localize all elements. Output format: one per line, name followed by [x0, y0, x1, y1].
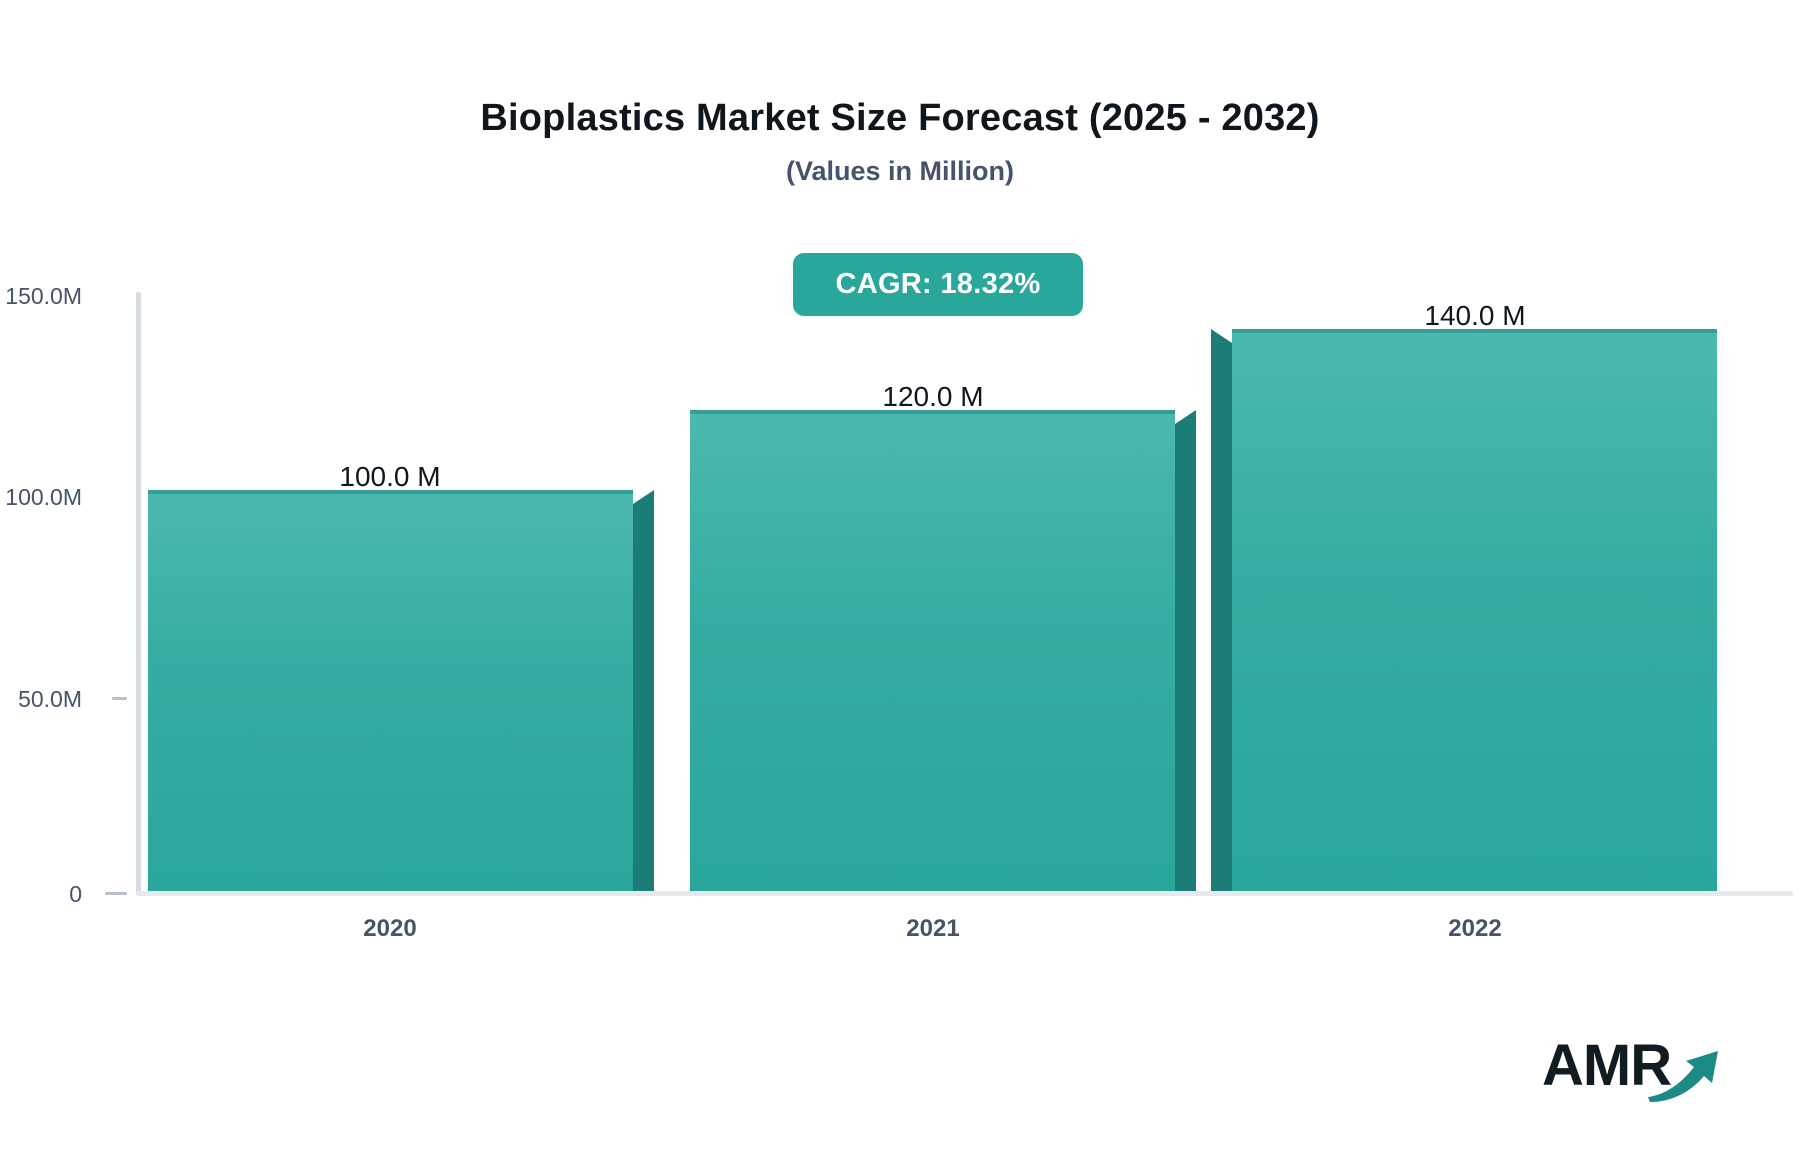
- plot-area: 150.0M 100.0M 50.0M 0 100.0 M 2020 120.0…: [0, 0, 1800, 1156]
- y-axis-line: [136, 292, 141, 896]
- x-axis-label-2020: 2020: [230, 917, 550, 941]
- bar-2022-front: [1232, 329, 1717, 891]
- y-axis-label-100: 100.0M: [5, 486, 82, 509]
- y-axis-label-150: 150.0M: [5, 285, 82, 308]
- cagr-badge: CAGR: 18.32%: [793, 253, 1083, 316]
- bar-2021-front: [690, 410, 1175, 891]
- bar-2022-side: [1211, 329, 1232, 891]
- chart-page: Bioplastics Market Size Forecast (2025 -…: [0, 0, 1800, 1156]
- bar-2021[interactable]: [690, 410, 1175, 891]
- bar-2021-side: [1175, 410, 1196, 891]
- bar-2020[interactable]: [148, 490, 633, 891]
- bar-2020-value-label: 100.0 M: [230, 463, 550, 491]
- bar-2021-value-label: 120.0 M: [773, 383, 1093, 411]
- y-axis-label-0: 0: [69, 883, 82, 906]
- y-axis-label-50: 50.0M: [18, 688, 82, 711]
- x-axis-baseline: [136, 891, 1793, 896]
- bar-2020-front: [148, 490, 633, 891]
- cagr-badge-label: CAGR: 18.32%: [835, 268, 1040, 301]
- y-axis-tick-50: [112, 697, 127, 700]
- x-axis-label-2021: 2021: [773, 917, 1093, 941]
- bar-2022[interactable]: [1232, 329, 1717, 891]
- x-axis-label-2022: 2022: [1315, 917, 1635, 941]
- growth-arrow-icon: [1646, 1045, 1726, 1103]
- y-axis-tick-0: [105, 892, 127, 895]
- bar-2022-value-label: 140.0 M: [1315, 302, 1635, 330]
- amr-logo: AMR: [1542, 1031, 1722, 1111]
- bar-2020-side: [633, 490, 654, 891]
